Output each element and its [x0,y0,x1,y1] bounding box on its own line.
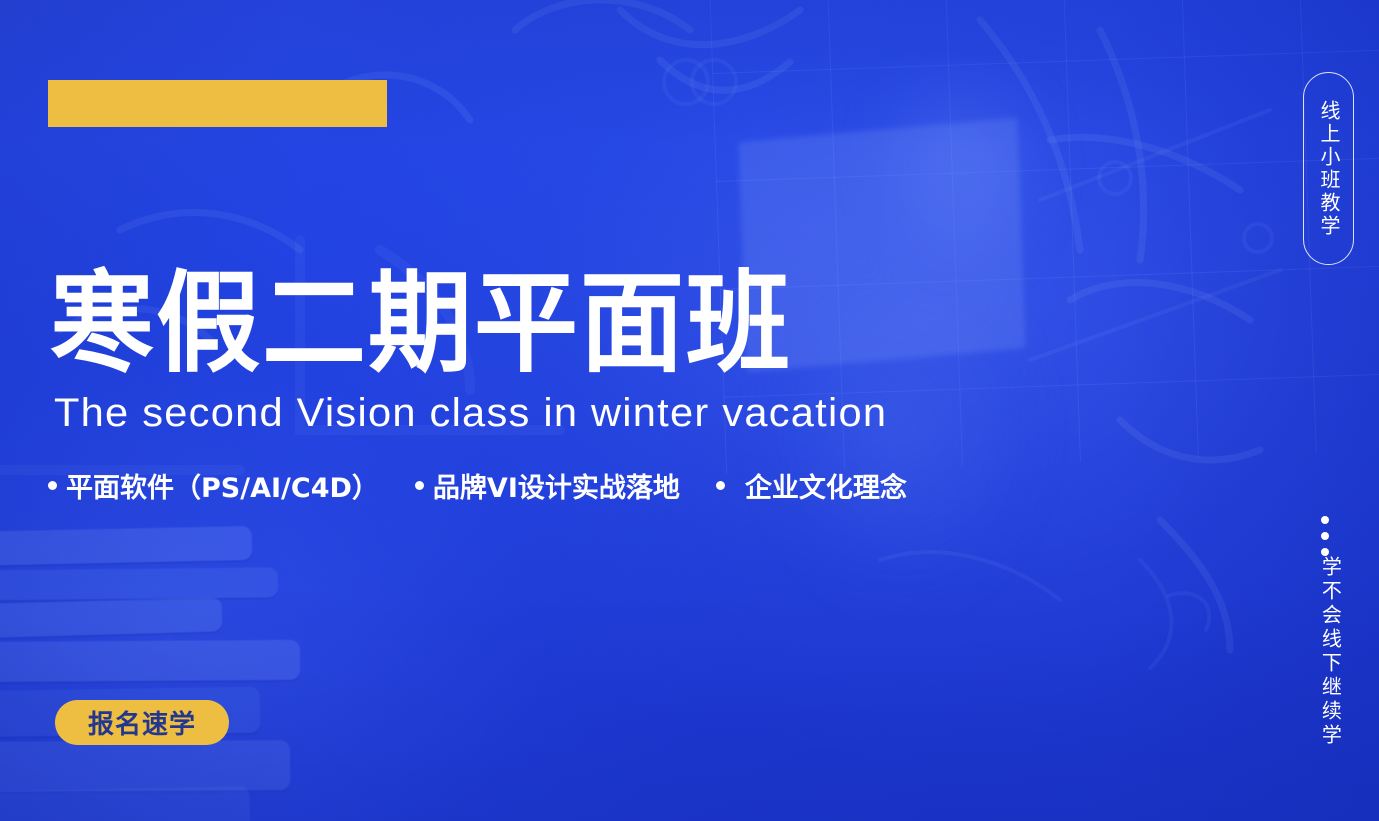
feature-item: 品牌VI设计实战落地 [415,466,680,505]
dot-icon [1321,532,1329,540]
page-subtitle: The second Vision class in winter vacati… [54,393,887,433]
feature-label: 平面软件（PS/AI/C4D） [66,466,379,505]
enroll-button[interactable]: 报名速学 [55,700,229,745]
feature-list: 平面软件（PS/AI/C4D） 品牌VI设计实战落地 企业文化理念 [48,466,907,505]
feature-label: 品牌VI设计实战落地 [433,466,680,505]
dot-icon [1321,516,1329,524]
online-class-badge-label: 线上小班教学 [1315,100,1342,238]
online-class-badge: 线上小班教学 [1303,72,1354,265]
feature-item: 企业文化理念 [716,466,907,505]
accent-bar [48,80,387,127]
feature-item: 平面软件（PS/AI/C4D） [48,466,379,505]
bullet-dot-icon [716,481,725,490]
dot-icon [1321,548,1329,556]
poster-content: 寒假二期平面班 The second Vision class in winte… [0,0,1379,821]
guarantee-label: 学不会线下继续学 [1316,556,1343,748]
bullet-dot-icon [48,481,57,490]
feature-label: 企业文化理念 [745,466,907,505]
page-title: 寒假二期平面班 [50,268,792,378]
rail-dots-decoration [1321,516,1329,556]
bullet-dot-icon [415,481,424,490]
course-promo-banner: 寒假二期平面班 The second Vision class in winte… [0,0,1379,821]
